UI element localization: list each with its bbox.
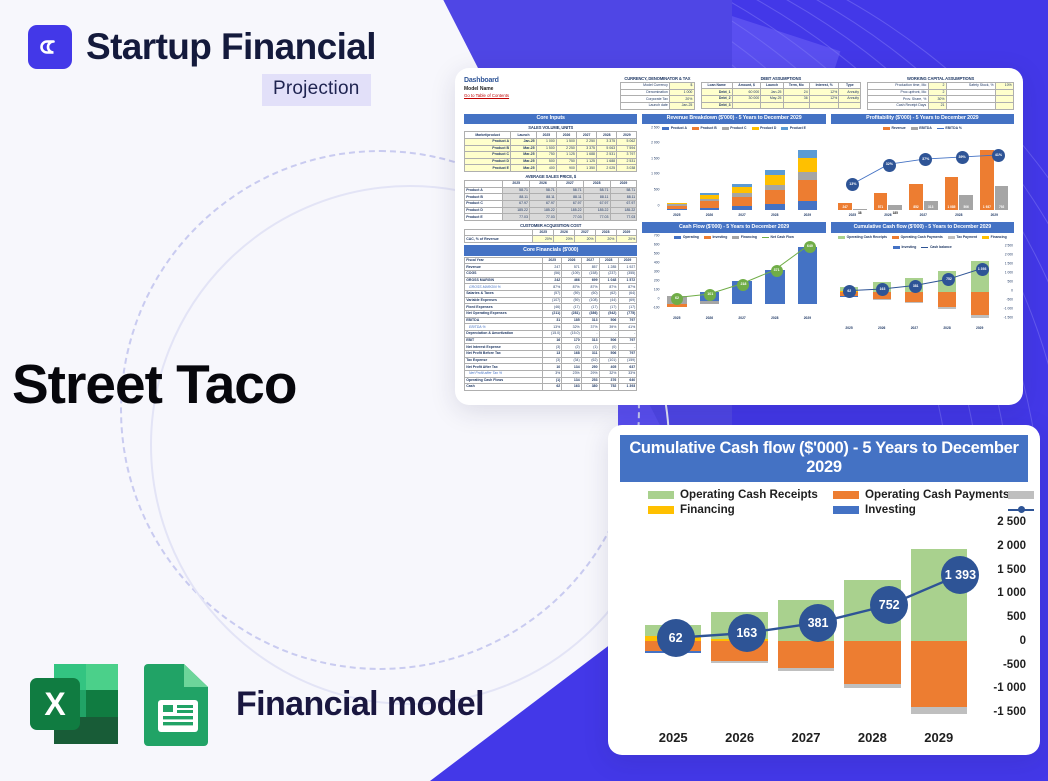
cumulative-mini-chart: Operating Cash ReceiptsOperating Cash Pa…: [831, 234, 1014, 333]
legend-item: Operating Cash Receipts: [648, 488, 833, 501]
bar-stack: [765, 241, 785, 313]
table-row: Fixed Expenses(46)(17)(17)(17)(17): [465, 304, 637, 311]
brand-logo-icon: [28, 25, 72, 69]
legend-item: Investing: [833, 503, 1008, 516]
table-row: Net Profit after Tax %3%23%29%32%33%: [465, 370, 637, 377]
legend-swatch: [833, 491, 859, 499]
table-row: EBIT16170313506797: [465, 337, 637, 344]
footer-label: Financial model: [236, 685, 484, 724]
data-label: 39%: [956, 151, 969, 164]
table-row: GROSS MARGIN2424666991 0481 572: [465, 277, 637, 284]
axis-tick: 2 500: [1005, 244, 1013, 249]
legend-item: Operating Cash Payments: [892, 235, 943, 240]
legend-item: Investing: [893, 245, 916, 250]
data-label: 381: [909, 280, 922, 293]
bar-value: 247: [836, 205, 854, 210]
legend-line-swatch: [1008, 505, 1034, 515]
legend-item: Net Cash Flow: [762, 235, 794, 240]
axis-tick: -100: [653, 306, 660, 311]
svg-text:X: X: [44, 686, 66, 722]
legend-label: Financing: [680, 503, 735, 516]
axis-label: 2029: [804, 316, 811, 321]
legend-item: Revenue: [883, 126, 906, 131]
axis-tick: 0: [1020, 635, 1026, 647]
cash-balance-bubble: 381: [799, 604, 837, 642]
bar: 506: [959, 195, 973, 211]
table-row: EBITDA31185313506797: [465, 317, 637, 324]
axis-tick: 600: [654, 243, 660, 248]
axis-tick: 500: [1007, 611, 1026, 623]
data-label: 32%: [883, 159, 896, 172]
data-label: 640: [804, 241, 816, 253]
axis-tick: 0: [658, 297, 660, 302]
cash-balance-bubble: 1 393: [941, 556, 979, 594]
axis-tick: 1 000: [997, 587, 1026, 599]
bar: 313: [924, 201, 938, 211]
bar-value: 792: [993, 205, 1011, 210]
legend-swatch: [833, 506, 859, 514]
table-row: Product C67.9767.9767.9767.9767.97: [465, 200, 637, 207]
axis-label: 2028: [955, 213, 962, 218]
axis-label: 2025: [849, 213, 856, 218]
table-row: Net Profit After Tax10134250405637: [465, 364, 637, 371]
table-row: Net Interest Expense(3)(2)(1)(0)-: [465, 344, 637, 351]
core-inputs-bar: Core Inputs: [464, 114, 637, 125]
table-row: Variable Expenses(107)(59)(108)(44)(69): [465, 297, 637, 304]
legend-swatch: [648, 506, 674, 514]
cash-balance-bubble: 752: [870, 586, 908, 624]
axis-label: 2027: [738, 213, 745, 218]
table-row: Debt_3: [701, 102, 861, 109]
cumulative-cashflow-card: Cumulative Cash flow ($'000) - 5 Years t…: [608, 425, 1040, 755]
wc-block-table: Production time, Mo2Safety Stock, %10%Pr…: [867, 82, 1014, 110]
core-financials-bar: Core Financials ($'000): [464, 245, 637, 256]
axis-tick: 400: [654, 261, 660, 266]
table-row: Corporate Tax20%: [621, 96, 694, 103]
brand-subtitle: Projection: [262, 74, 371, 106]
axis-tick: 1 500: [997, 564, 1026, 576]
table-row: Product AJan-251 0001 5002 2503 3755 062: [465, 138, 637, 145]
axis-label: 2027: [792, 730, 821, 745]
cumulative-mini-title: Cumulative Cash flow ($'000) - 5 Years t…: [831, 222, 1014, 233]
cash-balance-bubble: 62: [657, 619, 695, 657]
table-row: Product B88.1188.1188.1188.1188.11: [465, 194, 637, 201]
axis-tick: 500: [654, 188, 660, 193]
brand-title: Startup Financial: [86, 26, 376, 68]
axis-tick: 0: [1011, 289, 1013, 294]
legend-item: Product D: [752, 126, 777, 131]
infinity-loop-icon: [36, 33, 64, 61]
axis-tick: -1 000: [993, 682, 1026, 694]
legend-item: Financing: [732, 235, 757, 240]
bar: 852: [909, 184, 923, 210]
table-row: Product CMar-257501 1251 6882 5313 797: [465, 152, 637, 159]
bar: 1 085: [945, 177, 959, 211]
axis-label: 2026: [884, 213, 891, 218]
axis-label: 2025: [659, 730, 688, 745]
data-label: 218: [737, 279, 749, 291]
legend-item: Product E: [781, 126, 806, 131]
table-row: Launch dateJan-25: [621, 102, 694, 109]
axis-label: 2026: [725, 730, 754, 745]
sales-volume-table: Market/productLaunch20252026202720282029…: [464, 131, 637, 172]
axis-tick: -1 500: [993, 706, 1026, 718]
axis-label: 2027: [911, 326, 918, 331]
axis-tick: -500: [1003, 659, 1026, 671]
table-row: Debt_230 000May-253612%Annuity: [701, 96, 861, 103]
axis-label: 2028: [771, 316, 778, 321]
bar-stack: [667, 203, 687, 211]
profitability-title: Profitability ($'000) - 5 Years to Decem…: [831, 114, 1014, 125]
table-row: Operating Cash Flows(1)134253376640: [465, 377, 637, 384]
bar-value: 506: [957, 205, 975, 210]
bar-group: 852313: [909, 184, 937, 210]
model-name-label: Model Name: [464, 86, 614, 93]
legend-swatch: [1008, 491, 1034, 499]
dashboard-heading: Dashboard: [464, 76, 614, 86]
dashboard-spreadsheet: Dashboard Model Name Go to Table of Cont…: [464, 76, 1014, 391]
axis-tick: 500: [1007, 280, 1013, 285]
bar-stack: [732, 241, 752, 313]
legend-label: Operating Cash Receipts: [680, 488, 818, 501]
axis-tick: -1 500: [1004, 316, 1013, 321]
data-label: 371: [771, 265, 783, 277]
axis-tick: 0: [658, 203, 660, 208]
axis-label: 2026: [706, 213, 713, 218]
table-row: GROSS MARGIN %87%87%87%87%87%: [465, 284, 637, 291]
axis-label: 2025: [845, 326, 852, 331]
table-row: Cash621633807521 393: [465, 384, 637, 391]
legend-item: Product A: [662, 126, 687, 131]
legend-item: Tax Payment: [1008, 488, 1040, 501]
footer-row: X Financial model: [28, 662, 484, 746]
poster-root: Startup Financial Projection Street Taco…: [0, 0, 1048, 781]
axis-label: 2026: [706, 316, 713, 321]
bar: 1 937: [980, 150, 994, 210]
axis-tick: 300: [654, 270, 660, 275]
axis-tick: 1 000: [1005, 271, 1013, 276]
bar-group: 571185: [874, 193, 902, 211]
table-row: Revenue2475718571 2851 927: [465, 264, 637, 271]
axis-tick: 100: [654, 288, 660, 293]
data-label: 1 393: [976, 263, 989, 276]
bar-stack: [971, 251, 989, 317]
axis-label: 2025: [673, 213, 680, 218]
brand-header: Startup Financial: [28, 25, 376, 69]
table-row: Product D185.22185.22185.22185.22185.22: [465, 207, 637, 214]
revenue-breakdown-chart: Product AProduct BProduct CProduct DProd…: [642, 125, 825, 220]
axis-label: 2028: [943, 326, 950, 331]
axis-tick: 1 000: [651, 172, 659, 177]
axis-label: 2027: [738, 316, 745, 321]
cumulative-x-axis: 20252026202720282029: [640, 730, 972, 745]
currency-block-table: Model Currency$Denomination1 000Corporat…: [620, 82, 694, 110]
axis-label: 2027: [920, 213, 927, 218]
page-title: Street Taco: [12, 352, 296, 416]
legend-item: Operating: [674, 235, 699, 240]
data-label: 62: [843, 285, 856, 298]
axis-tick: 200: [654, 279, 660, 284]
google-sheets-icon: [142, 662, 214, 746]
axis-label: 2028: [771, 213, 778, 218]
legend-item: Investing: [704, 235, 727, 240]
cash-flow-title: Cash Flow ($'000) - 5 Years to December …: [642, 222, 825, 233]
legend-item: Cash balance: [1008, 503, 1040, 516]
table-row: Cash Receipt Days21: [868, 102, 1014, 109]
bar-group: 24738: [838, 203, 866, 211]
cumulative-chart-plot: 2 5002 0001 5001 0005000-500-1 000-1 500…: [620, 522, 1028, 727]
axis-tick: 1 500: [1005, 262, 1013, 267]
revenue-breakdown-title: Revenue Breakdown ($'000) - 5 Years to D…: [642, 114, 825, 125]
axis-label: 2025: [673, 316, 680, 321]
axis-tick: -1 000: [1004, 307, 1013, 312]
bar-value: 313: [922, 205, 940, 210]
axis-label: 2029: [924, 730, 953, 745]
cumulative-chart-legend: Operating Cash ReceiptsOperating Cash Pa…: [620, 482, 1028, 518]
axis-label: 2029: [991, 213, 998, 218]
bar: 792: [995, 186, 1009, 211]
legend-item: Product B: [692, 126, 717, 131]
cash-flow-chart: OperatingInvestingFinancingNet Cash Flow…: [642, 234, 825, 323]
table-row: Net Profit Before Tax13168311506797: [465, 350, 637, 357]
legend-swatch: [648, 491, 674, 499]
axis-tick: 1 500: [651, 156, 659, 161]
table-row: Product BMar-251 5002 2503 3755 0637 594: [465, 145, 637, 152]
legend-item: Financing: [648, 503, 833, 516]
bar-stack: [700, 241, 720, 313]
axis-tick: 500: [654, 252, 660, 257]
currency-block-title: CURRENCY, DENOMINATOR & TAX: [620, 76, 694, 82]
cumulative-chart-title: Cumulative Cash flow ($'000) - 5 Years t…: [620, 435, 1028, 482]
axis-tick: -500: [1006, 298, 1013, 303]
legend-item: Financing: [982, 235, 1007, 240]
legend-item: Operating Cash Receipts: [838, 235, 887, 240]
legend-item: Cash balance: [921, 245, 951, 250]
axis-tick: 700: [654, 234, 660, 239]
legend-item: Product C: [722, 126, 747, 131]
table-row: Prov. Share, %30%: [868, 96, 1014, 103]
table-row: Denomination1 000: [621, 89, 694, 96]
legend-label: Operating Cash Payments: [865, 488, 1009, 501]
axis-tick: 2 000: [997, 540, 1026, 552]
data-label: 62: [671, 293, 683, 305]
core-financials-table: Fiscal Year20252026202720282029Revenue24…: [464, 257, 637, 391]
table-row: Product DMar-255007501 1251 6882 531: [465, 158, 637, 165]
debt-block-table: Loan NameAmount, $LaunchTerm, MoInterest…: [701, 82, 862, 110]
avg-price-table: 20252026202720282029Product A58.7158.715…: [464, 180, 637, 221]
table-row: Salaries & Taxes(57)(59)(60)(62)(64): [465, 291, 637, 298]
cac-table: 20252026202720282029CAC, % of Revenue20%…: [464, 229, 637, 243]
bar-stack: [798, 150, 818, 210]
legend-item: EBITDA %: [937, 126, 962, 131]
axis-label: 2029: [976, 326, 983, 331]
toc-link[interactable]: Go to Table of Contents: [464, 93, 614, 99]
legend-label: Investing: [865, 503, 916, 516]
axis-tick: 2 000: [1005, 253, 1013, 258]
table-row: Product A58.7158.7158.7158.7158.71: [465, 187, 637, 194]
legend-item: Operating Cash Payments: [833, 488, 1008, 501]
axis-label: 2028: [858, 730, 887, 745]
bar-group: 1 085506: [945, 177, 973, 211]
bar: 571: [874, 193, 888, 211]
legend-item: Tax Payment: [948, 235, 977, 240]
table-row: Debt_160 000Jan-252412%Annuity: [701, 89, 861, 96]
legend-item: EBITDA: [911, 126, 932, 131]
bar: 247: [838, 203, 852, 211]
bar-value: 571: [872, 205, 890, 210]
axis-tick: 2 000: [651, 141, 659, 146]
table-row: Product EMar-254009001 3502 0253 038: [465, 165, 637, 172]
table-row: Model Currency$: [621, 82, 694, 89]
table-row: Tax Expense(3)(34)(62)(101)(159): [465, 357, 637, 364]
table-row: Product E77.0377.0377.0377.0377.03: [465, 214, 637, 221]
table-row: Proc.upfront, Mo2: [868, 89, 1014, 96]
bar-stack: [765, 170, 785, 210]
cash-balance-bubble: 163: [728, 614, 766, 652]
table-row: COGS(56)(109)(158)(237)(355): [465, 271, 637, 278]
axis-label: 2029: [804, 213, 811, 218]
profitability-chart: RevenueEBITDAEBITDA % 247385711858523131…: [831, 125, 1014, 220]
axis-tick: 2 500: [651, 125, 659, 130]
table-row: Production time, Mo2Safety Stock, %10%: [868, 82, 1014, 89]
bar-stack: [700, 193, 720, 211]
excel-file-icon: X: [28, 662, 120, 746]
bar-stack: [732, 184, 752, 211]
table-row: EBITDA %13%32%37%39%41%: [465, 324, 637, 331]
dashboard-screenshot-card: Dashboard Model Name Go to Table of Cont…: [455, 68, 1023, 405]
table-row: Net Operating Expenses(211)(281)(386)(54…: [465, 310, 637, 317]
axis-label: 2026: [878, 326, 885, 331]
table-row: CAC, % of Revenue20%20%20%20%20%: [465, 236, 637, 243]
table-row: Depreciation & Amortization(15.0)(15.0)-…: [465, 330, 637, 337]
axis-tick: 2 500: [997, 516, 1026, 528]
